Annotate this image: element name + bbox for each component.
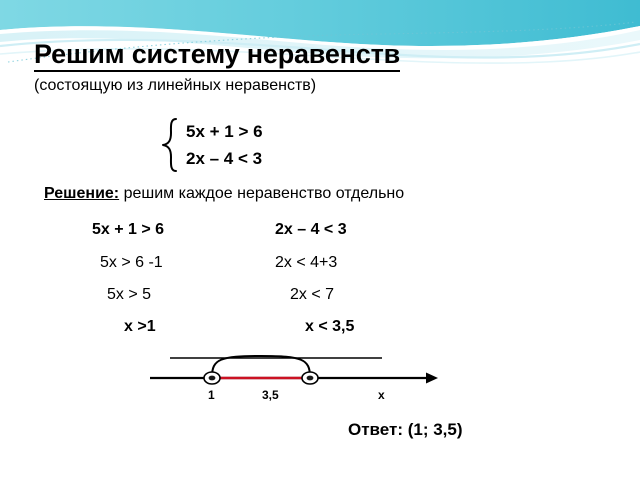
- step-2-right: 2x < 4+3: [275, 254, 337, 272]
- step-1-left: 5x + 1 > 6: [92, 221, 164, 239]
- solution-label: Решение:: [44, 185, 119, 202]
- left-curly-brace-icon: [160, 117, 182, 173]
- number-line-figure: 1 3,5 x: [150, 348, 440, 410]
- solution-description: решим каждое неравенство отдельно: [119, 185, 404, 202]
- number-line-graphic: [150, 348, 440, 388]
- step-1-right: 2x – 4 < 3: [275, 221, 347, 239]
- tick-label-1: 1: [208, 388, 215, 402]
- endpoint-inner-dot-1: [209, 376, 216, 381]
- step-4-right: x < 3,5: [305, 318, 354, 336]
- solution-heading: Решение: решим каждое неравенство отдель…: [44, 185, 404, 203]
- step-3-left: 5x > 5: [107, 286, 151, 304]
- title-block: Решим систему неравенств (состоящую из л…: [34, 40, 614, 95]
- answer-text: Ответ: (1; 3,5): [348, 420, 463, 440]
- system-equation-list: 5x + 1 > 6 2x – 4 < 3: [186, 117, 263, 173]
- step-4-left: x >1: [124, 318, 156, 336]
- step-3-right: 2x < 7: [290, 286, 334, 304]
- endpoint-inner-dot-2: [307, 376, 314, 381]
- system-equation-2: 2x – 4 < 3: [186, 145, 263, 172]
- system-of-inequalities: 5x + 1 > 6 2x – 4 < 3: [160, 117, 263, 173]
- step-2-left: 5x > 6 -1: [100, 254, 163, 272]
- interval-arc-icon: [212, 356, 310, 377]
- page-title: Решим систему неравенств: [34, 40, 400, 72]
- slide-canvas: Решим систему неравенств (состоящую из л…: [0, 0, 640, 480]
- page-subtitle: (состоящую из линейных неравенств): [34, 77, 614, 95]
- axis-label-x: x: [378, 388, 385, 402]
- system-equation-1: 5x + 1 > 6: [186, 118, 263, 145]
- right-arrow-icon: [426, 373, 438, 384]
- tick-label-3-5: 3,5: [262, 388, 279, 402]
